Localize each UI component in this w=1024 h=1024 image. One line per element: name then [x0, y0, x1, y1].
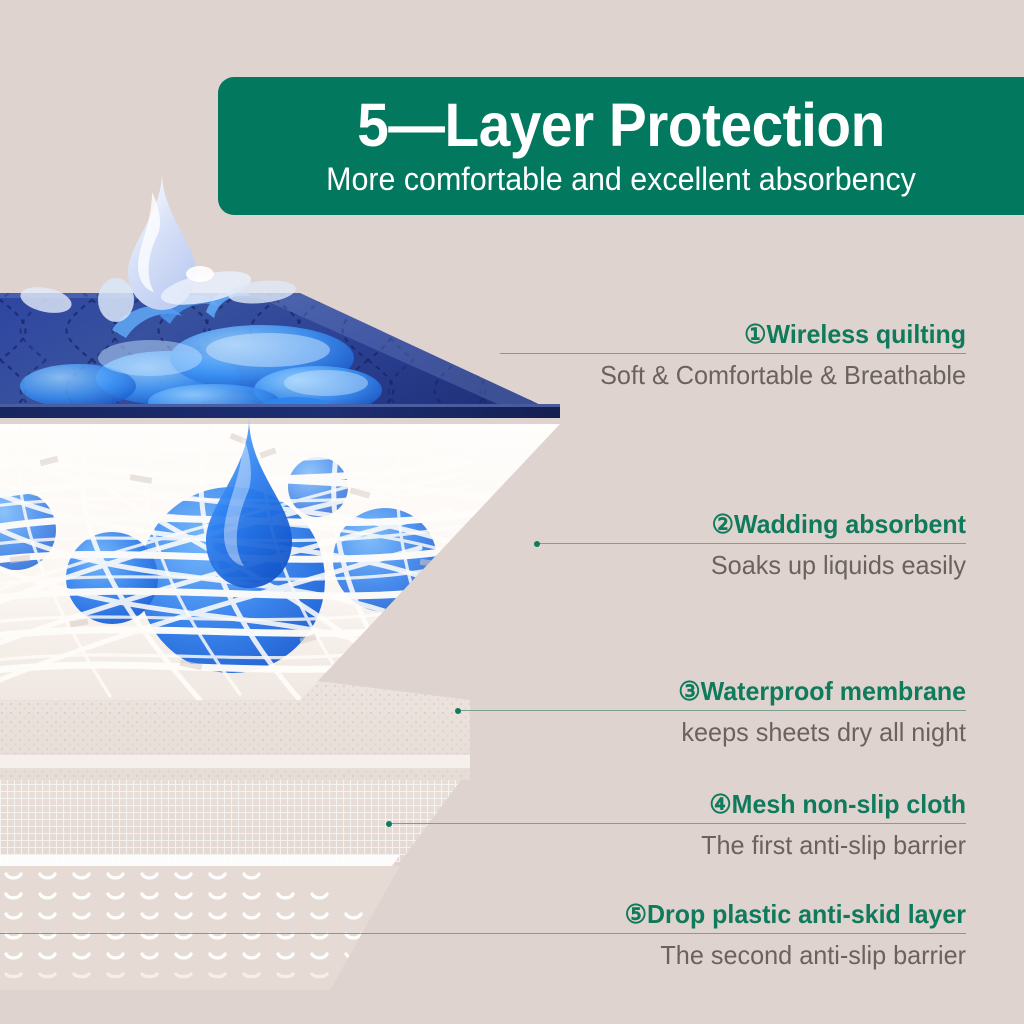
callout-title-text-1: Wireless quilting: [767, 319, 966, 349]
callout-wireless-quilting: ①Wireless quilting Soft & Comfortable & …: [500, 318, 966, 392]
callout-rule-5: [0, 933, 966, 934]
callout-number-1: ①: [744, 319, 766, 349]
banner-subtitle: More comfortable and excellent absorbenc…: [238, 160, 1004, 198]
callout-subtitle-4: The first anti-slip barrier: [406, 826, 966, 862]
banner-title: 5—Layer Protection: [246, 92, 996, 158]
callout-rule-1: [500, 353, 966, 354]
callout-subtitle-2: Soaks up liquids easily: [550, 546, 966, 582]
callout-title-4: ④Mesh non-slip cloth: [412, 788, 966, 820]
callout-dot-icon-3: [455, 708, 461, 714]
callout-wadding-absorbent: ②Wadding absorbent Soaks up liquids easi…: [537, 508, 966, 582]
callout-title-text-5: Drop plastic anti-skid layer: [647, 899, 966, 929]
callout-title-1: ①Wireless quilting: [519, 318, 966, 350]
callout-mesh-non-slip-cloth: ④Mesh non-slip cloth The first anti-slip…: [389, 788, 966, 862]
callout-rule-2: [537, 543, 966, 544]
layer-quilted-top-fabric: [0, 288, 580, 420]
callout-drop-plastic-anti-skid-layer: ⑤Drop plastic anti-skid layer The second…: [0, 898, 966, 972]
callout-subtitle-5: The second anti-slip barrier: [29, 936, 966, 972]
callout-number-4: ④: [709, 789, 731, 819]
callout-title-5: ⑤Drop plastic anti-skid layer: [39, 898, 966, 930]
callout-dot-icon-4: [386, 821, 392, 827]
callout-number-2: ②: [712, 509, 734, 539]
infographic-canvas: 5—Layer Protection More comfortable and …: [0, 0, 1024, 1024]
callout-subtitle-3: keeps sheets dry all night: [473, 713, 966, 749]
callout-title-3: ③Waterproof membrane: [478, 675, 966, 707]
callout-number-3: ③: [678, 676, 700, 706]
callout-number-5: ⑤: [625, 899, 647, 929]
callout-dot-icon-2: [534, 541, 540, 547]
callout-rule-4: [389, 823, 966, 824]
header-banner: 5—Layer Protection More comfortable and …: [218, 77, 1024, 215]
callout-rule-3: [458, 710, 966, 711]
callout-title-text-2: Wadding absorbent: [734, 509, 966, 539]
callout-title-text-3: Waterproof membrane: [701, 676, 966, 706]
callout-waterproof-membrane: ③Waterproof membrane keeps sheets dry al…: [458, 675, 966, 749]
callout-title-text-4: Mesh non-slip cloth: [732, 789, 966, 819]
callout-subtitle-1: Soft & Comfortable & Breathable: [514, 356, 966, 392]
callout-title-2: ②Wadding absorbent: [554, 508, 966, 540]
